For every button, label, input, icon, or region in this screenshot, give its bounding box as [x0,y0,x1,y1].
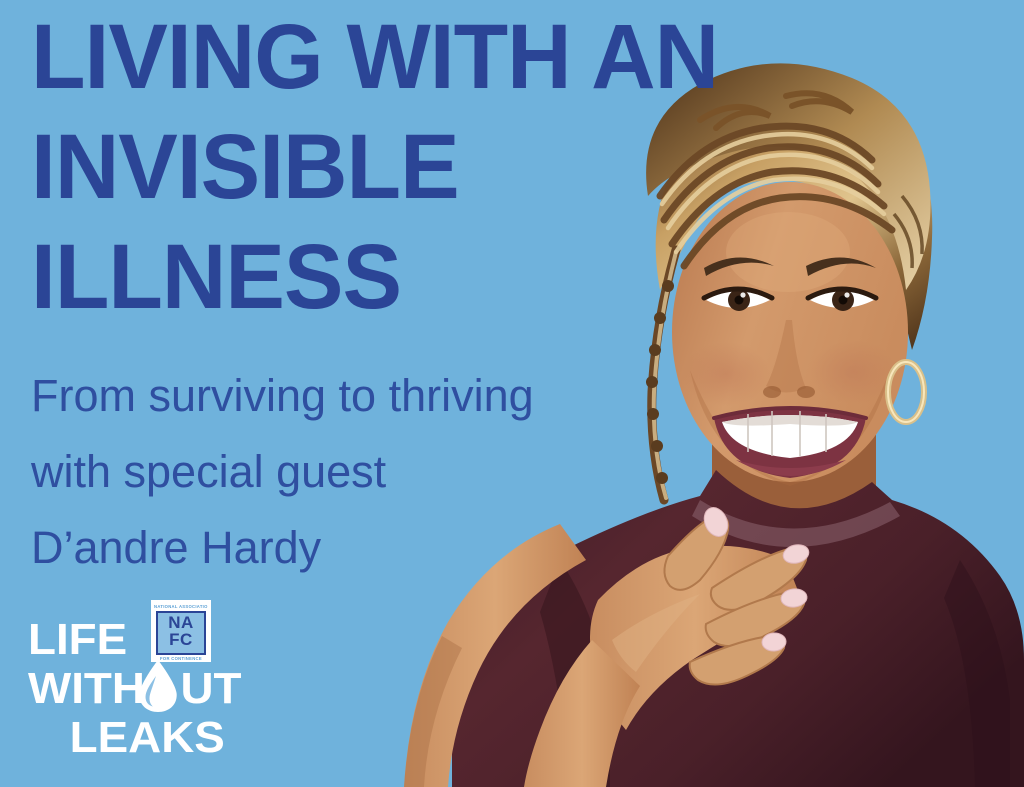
logo-line-leaks: LEAKS [18,716,231,760]
podcast-episode-poster: LIVING WITH AN INVISIBLE ILLNESS From su… [0,0,1024,787]
logo-without-part2: UT [181,664,242,713]
logo-without-part1: WITH [28,664,145,713]
subtitle-line-3: D’andre Hardy [31,510,534,586]
headline-line-1: LIVING WITH AN [31,2,718,112]
logo-wordmark: LIFE WITHOUT LEAKS [26,600,231,760]
page-title: LIVING WITH AN INVISIBLE ILLNESS [31,2,718,332]
life-without-leaks-logo: NATIONAL ASSOCIATION NA FC FOR CONTINENC… [26,600,231,735]
water-drop-icon [136,658,180,714]
subtitle-line-1: From surviving to thriving [31,358,534,434]
logo-line-without: WITHOUT [28,667,239,711]
headline-line-3: ILLNESS [31,222,718,332]
subtitle-line-2: with special guest [31,434,534,510]
headline-line-2: INVISIBLE [31,112,718,222]
logo-line-life: LIFE [28,618,239,662]
episode-subtitle: From surviving to thriving with special … [31,358,534,586]
